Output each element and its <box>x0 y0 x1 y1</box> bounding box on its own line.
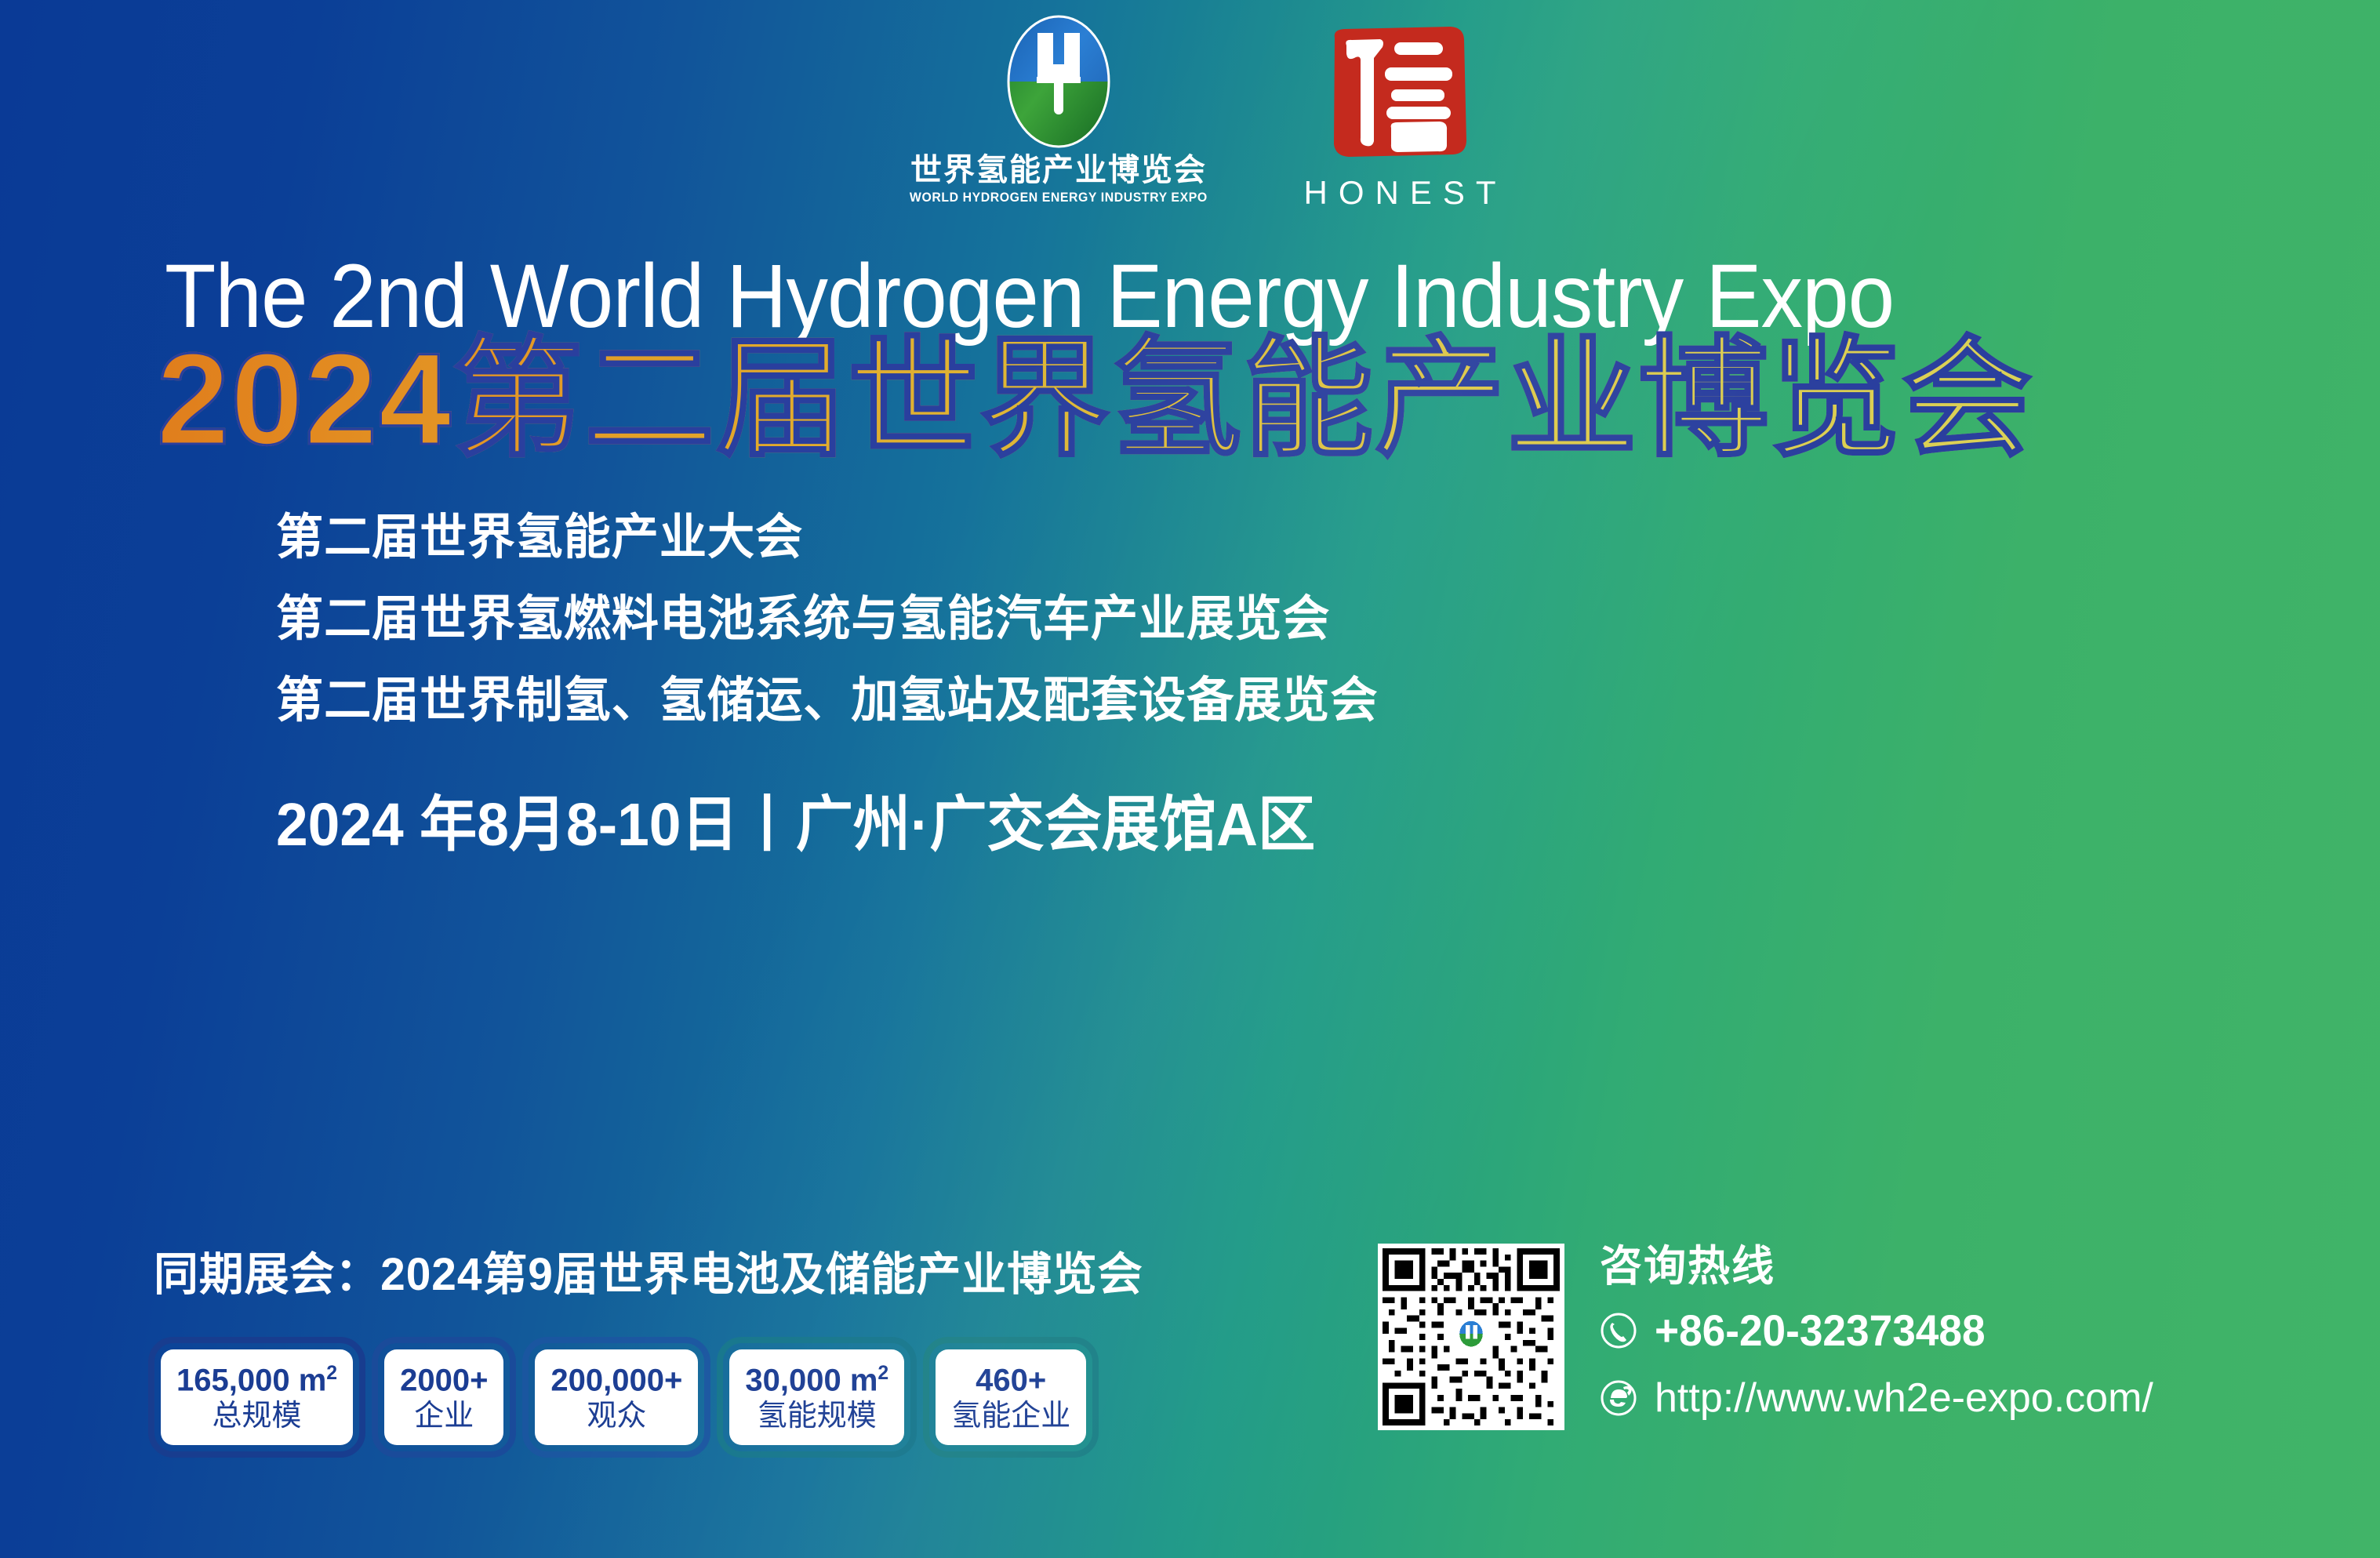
hydrogen-expo-h-mark-icon <box>1006 14 1111 149</box>
stats-badges: 165,000 m2 总规模 2000+ 企业 200,000+ 观众 30,0… <box>154 1342 1093 1452</box>
stat-badge: 165,000 m2 总规模 <box>161 1349 353 1445</box>
honest-xin-seal-icon <box>1325 24 1474 162</box>
stat-label: 观众 <box>587 1401 646 1433</box>
stat-label: 总规模 <box>213 1401 302 1433</box>
internet-explorer-icon <box>1600 1379 1637 1417</box>
stat-badge: 30,000 m2 氢能规模 <box>729 1349 904 1445</box>
logo-bar: 世界氢能产业博览会 WORLD HYDROGEN ENERGY INDUSTRY… <box>902 14 1529 212</box>
qr-code-icon[interactable] <box>1378 1244 1564 1430</box>
headline-chinese: 2024第二届世界氢能产业博览会 <box>157 323 2033 477</box>
expo-logo-name-en: WORLD HYDROGEN ENERGY INDUSTRY EXPO <box>910 191 1208 205</box>
contact-phone-row[interactable]: +86-20-32373488 <box>1600 1305 2153 1356</box>
stat-badge: 2000+ 企业 <box>384 1349 503 1445</box>
stat-value: 165,000 m2 <box>176 1364 337 1396</box>
sub-event-line: 第二届世界制氢、氢储运、加氢站及配套设备展览会 <box>276 677 1379 725</box>
contact-block: 咨询热线 +86-20-32373488 http://www.wh2e-exp… <box>1600 1245 2153 1440</box>
expo-logo: 世界氢能产业博览会 WORLD HYDROGEN ENERGY INDUSTRY… <box>902 14 1215 205</box>
stat-value: 460+ <box>976 1364 1046 1396</box>
stat-label: 氢能企业 <box>951 1401 1070 1433</box>
stat-badge: 460+ 氢能企业 <box>936 1349 1086 1445</box>
contact-title: 咨询热线 <box>1600 1245 2153 1287</box>
stat-value: 2000+ <box>400 1364 488 1396</box>
honest-logo-name-en: HONEST <box>1292 174 1506 212</box>
stat-badge: 200,000+ 观众 <box>535 1349 698 1445</box>
date-venue: 2024 年8月8-10日丨广州·广交会展馆A区 <box>276 776 1315 863</box>
sub-event-line: 第二届世界氢能产业大会 <box>276 514 1379 562</box>
honest-logo: HONEST <box>1270 14 1529 212</box>
expo-logo-name-cn: 世界氢能产业博览会 <box>910 154 1207 187</box>
sub-event-line: 第二届世界氢燃料电池系统与氢能汽车产业展览会 <box>276 595 1379 644</box>
concurrent-event: 同期展会：2024第9届世界电池及储能产业博览会 <box>154 1237 1143 1303</box>
phone-circle-icon <box>1600 1312 1637 1349</box>
sub-event-list: 第二届世界氢能产业大会 第二届世界氢燃料电池系统与氢能汽车产业展览会 第二届世界… <box>276 514 1412 725</box>
stat-value: 30,000 m2 <box>745 1364 888 1396</box>
contact-url: http://www.wh2e-expo.com/ <box>1655 1375 2153 1422</box>
event-poster: 世界氢能产业博览会 WORLD HYDROGEN ENERGY INDUSTRY… <box>0 0 2380 1558</box>
stat-value: 200,000+ <box>550 1364 682 1396</box>
stat-label: 氢能规模 <box>758 1401 877 1433</box>
contact-url-row[interactable]: http://www.wh2e-expo.com/ <box>1600 1375 2153 1422</box>
contact-phone: +86-20-32373488 <box>1655 1305 1986 1356</box>
stat-label: 企业 <box>414 1401 474 1433</box>
